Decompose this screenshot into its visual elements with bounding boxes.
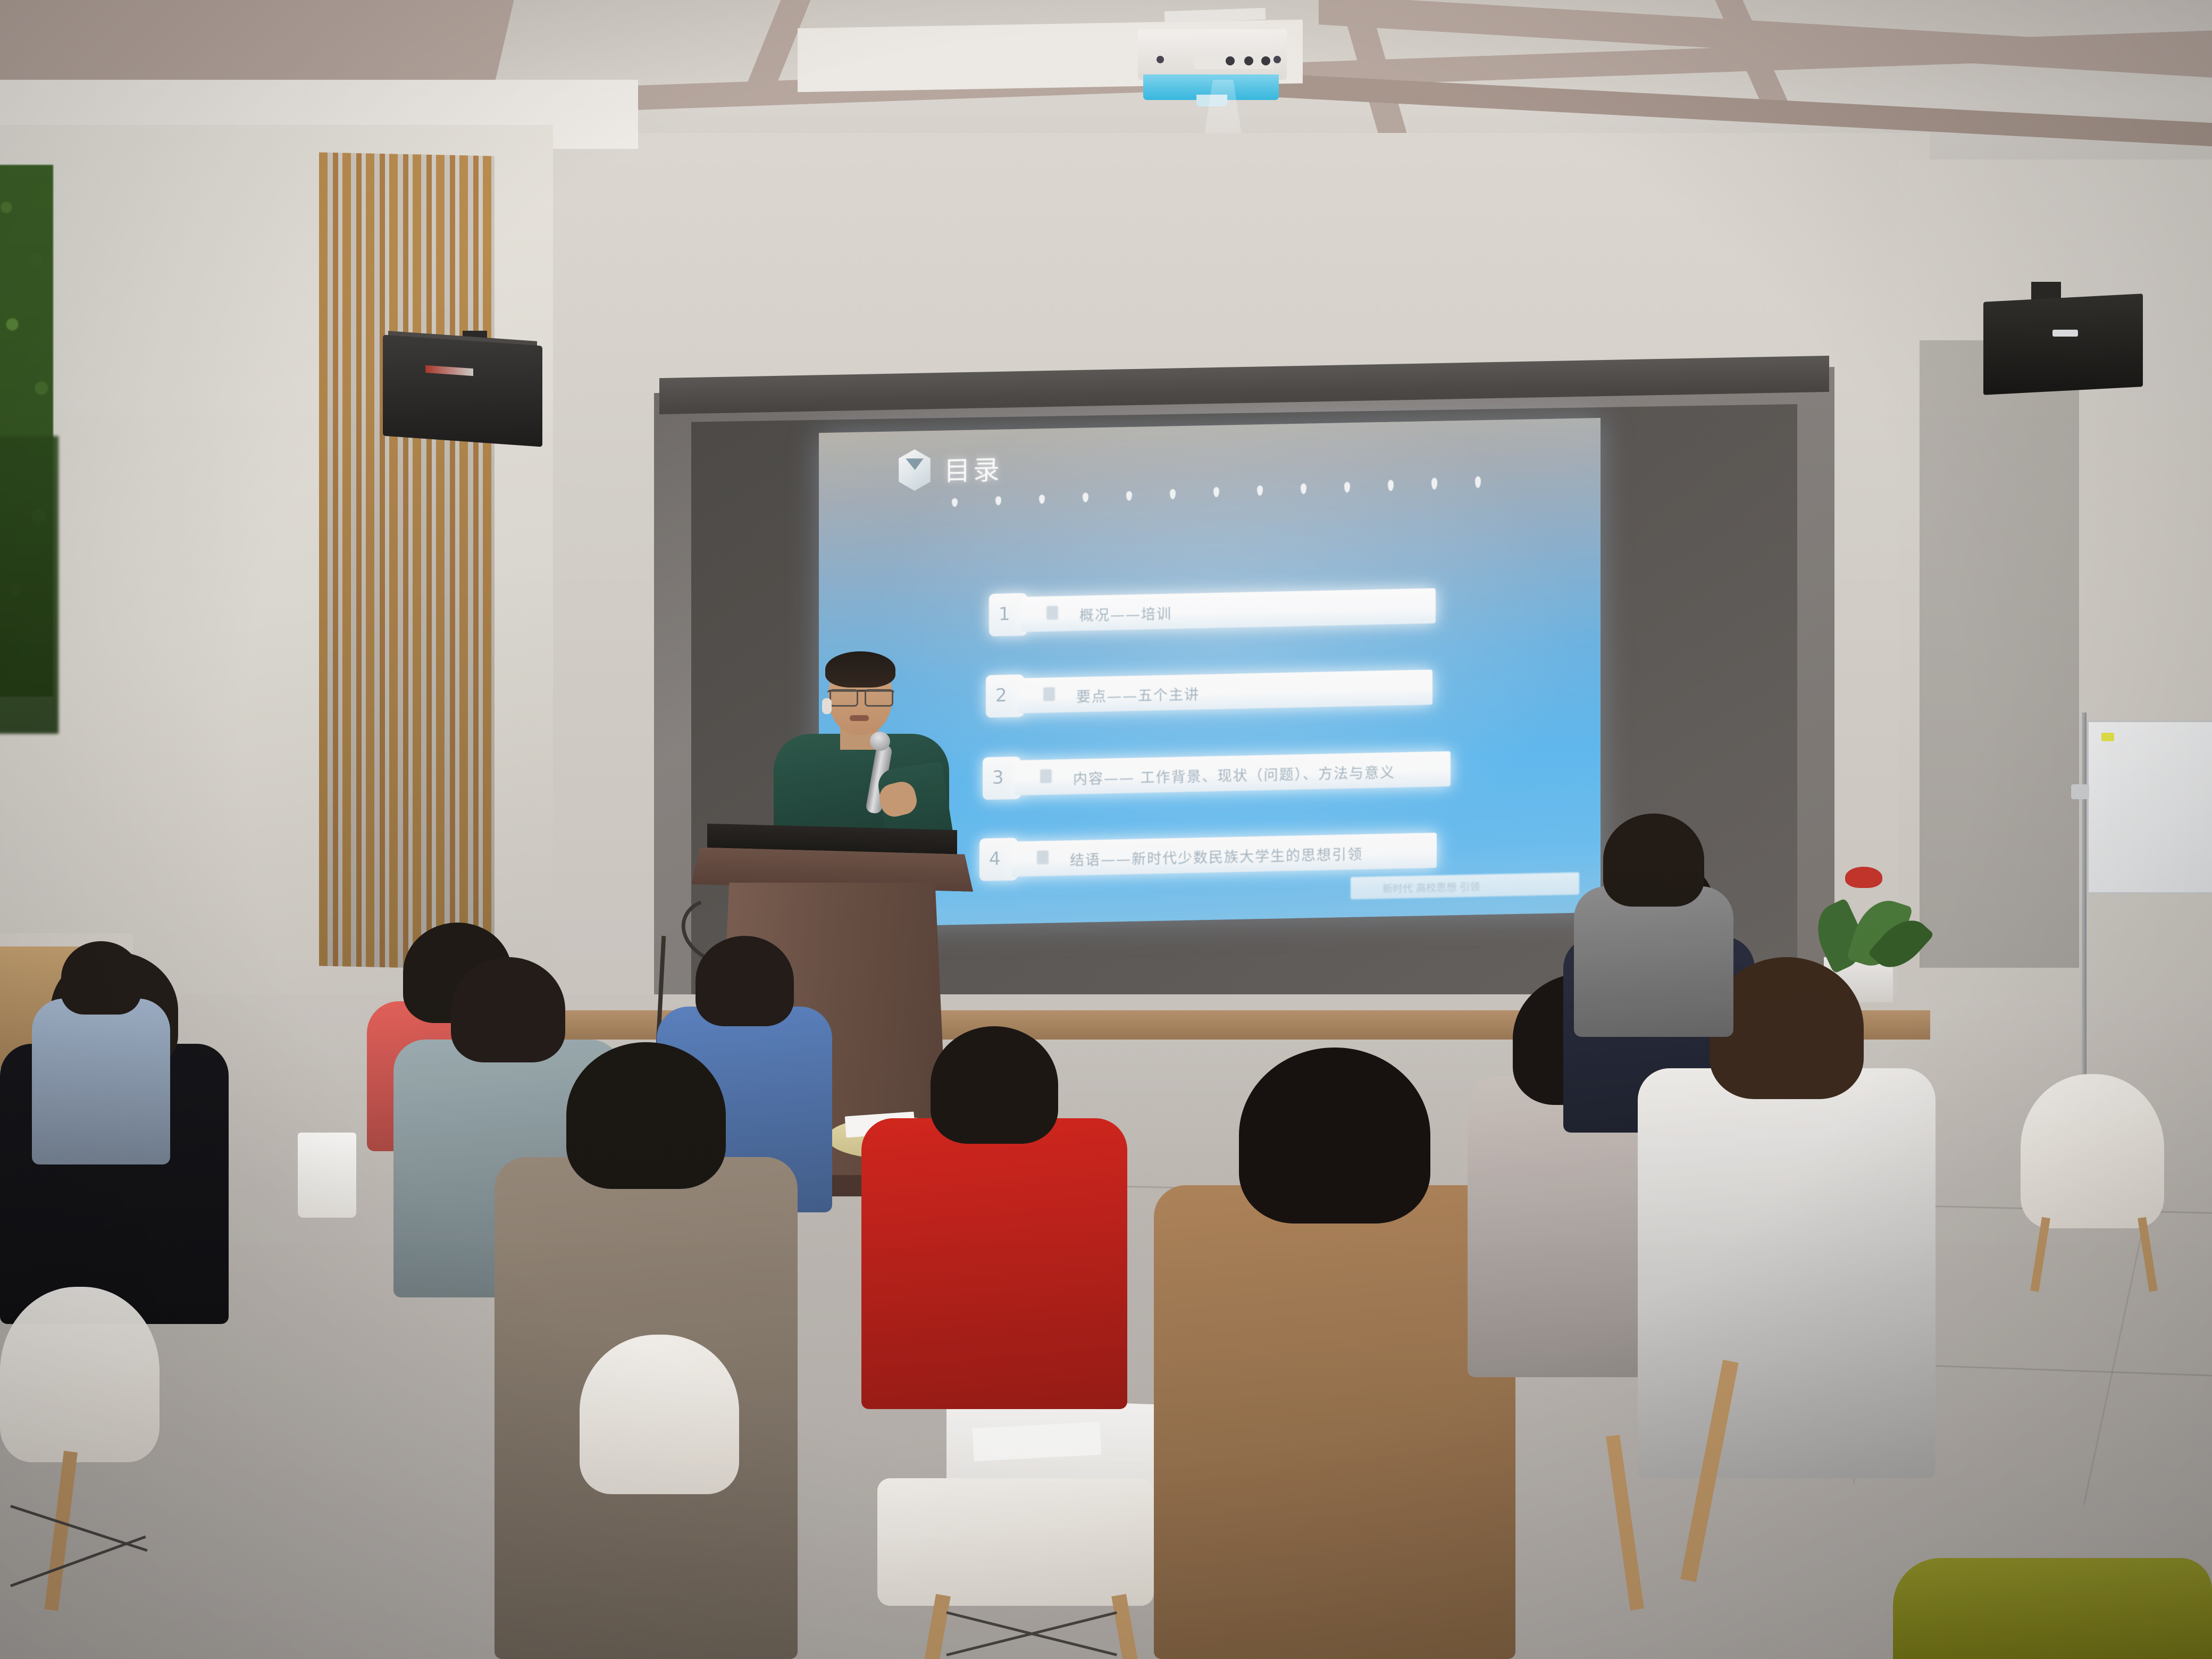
audience-hair xyxy=(1239,1048,1430,1224)
audience-member xyxy=(1574,814,1733,1037)
red-flower xyxy=(1845,867,1882,888)
speaker-led xyxy=(2052,330,2078,337)
slide-dot xyxy=(1126,491,1132,500)
presenter-glasses-lens xyxy=(865,689,893,707)
white-chair[interactable] xyxy=(580,1335,739,1494)
slide-toc-marker-icon xyxy=(1043,687,1055,701)
audience-torso xyxy=(1574,886,1733,1037)
audience-torso xyxy=(32,999,170,1164)
slide-dot xyxy=(1257,485,1263,496)
empty-white-chair[interactable] xyxy=(2021,1074,2164,1228)
audience-hair xyxy=(566,1042,726,1189)
projector-port xyxy=(1226,56,1235,65)
wood-slat-shadow xyxy=(319,153,495,970)
presenter-earpiece xyxy=(822,698,832,714)
audience-hair xyxy=(1603,814,1704,907)
whiteboard-stand-pole xyxy=(2082,713,2087,1117)
slide-dot xyxy=(1301,483,1306,494)
sticky-note xyxy=(2101,733,2114,741)
projector-lens-ring xyxy=(1273,56,1281,63)
mobile-whiteboard[interactable] xyxy=(2087,720,2212,894)
slide-dot xyxy=(1170,489,1176,499)
slide-dot xyxy=(1083,493,1088,502)
presenter-mouth xyxy=(850,715,869,721)
slide-footer-text: 新时代 高校思想 引领 xyxy=(1382,879,1480,895)
projector-port xyxy=(1261,56,1270,65)
audience-hair xyxy=(61,941,141,1015)
slide-toc-marker-icon xyxy=(1037,850,1049,864)
audience-member xyxy=(1154,1048,1515,1659)
projector-lens xyxy=(1196,95,1227,106)
slide-dot xyxy=(1039,495,1045,504)
slide-toc-label: 概况——培训 xyxy=(1079,602,1172,625)
presenter-hair xyxy=(825,651,895,688)
slide-heading: 目录 xyxy=(944,449,1002,488)
presenter-glasses-lens xyxy=(829,689,858,707)
green-plant-wall xyxy=(0,436,58,734)
audience-torso xyxy=(1638,1068,1935,1478)
slide-dot xyxy=(995,497,1001,506)
audience-torso xyxy=(861,1118,1127,1409)
slide-toc-number: 1 xyxy=(999,604,1010,625)
audience-hair xyxy=(696,936,794,1026)
slide-toc-label: 要点——五个主讲 xyxy=(1076,683,1200,706)
white-chair[interactable] xyxy=(0,1287,160,1462)
slide-toc-marker-icon xyxy=(1040,769,1052,783)
audience-member xyxy=(32,941,170,1164)
audience-torso xyxy=(1154,1185,1515,1659)
projector-port xyxy=(1244,56,1253,65)
slide-dot xyxy=(952,498,958,507)
slide-toc-marker-icon xyxy=(1046,606,1058,619)
slide-dot xyxy=(1213,487,1219,497)
paper-cup xyxy=(298,1133,356,1218)
olive-green-chair[interactable] xyxy=(1893,1558,2212,1659)
wall-speaker-right xyxy=(1983,294,2143,395)
conference-room-photo: 目录 1概况——培训2要点——五个主讲3内容—— 工作背景、现状（问题）、方法与… xyxy=(0,0,2212,1659)
audience-member xyxy=(861,1026,1127,1409)
slide-toc-number: 2 xyxy=(995,685,1007,706)
right-wall-recess xyxy=(1920,340,2079,968)
wall-speaker-left xyxy=(383,335,542,447)
slide-dot xyxy=(1388,480,1394,491)
paper-sheet xyxy=(973,1422,1102,1461)
slide-dot xyxy=(1475,476,1481,488)
audience-hair xyxy=(931,1026,1058,1144)
slide-dot xyxy=(1344,482,1350,493)
whiteboard-clip xyxy=(2071,784,2089,799)
slide-toc-number: 3 xyxy=(992,767,1004,788)
projector-lens-ring xyxy=(1157,56,1164,63)
ceiling-beam xyxy=(0,0,495,85)
slide-dot xyxy=(1431,478,1437,490)
slide-toc-number: 4 xyxy=(989,848,1001,869)
white-chair[interactable] xyxy=(877,1478,1154,1606)
